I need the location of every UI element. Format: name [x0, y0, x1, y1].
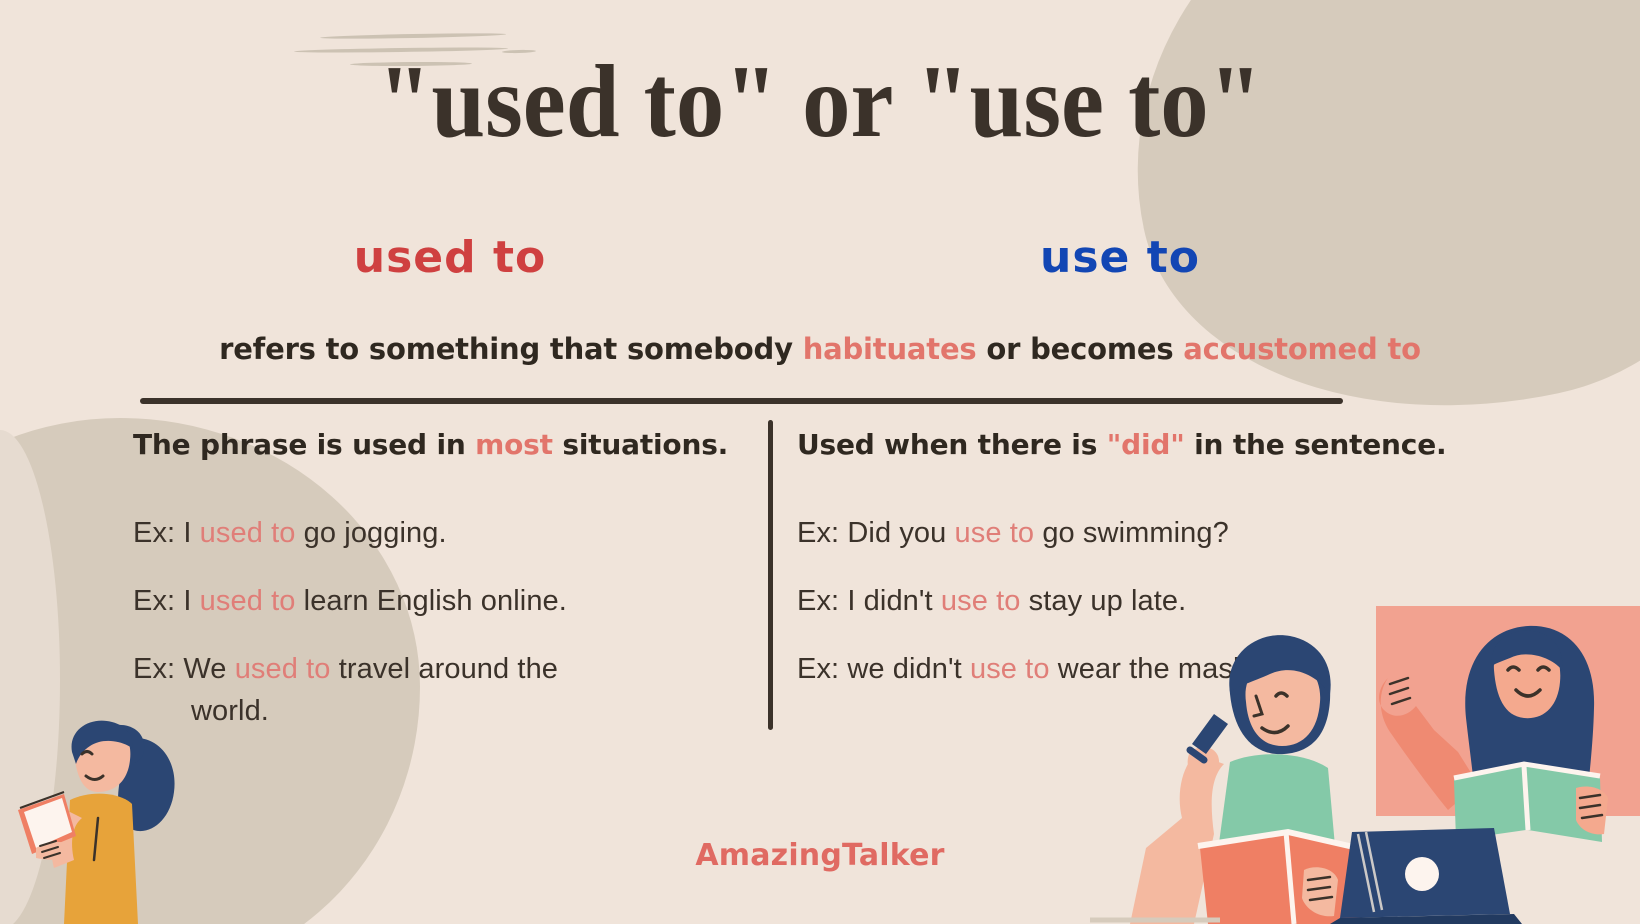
definition-part-1: refers to something that somebody: [219, 332, 803, 366]
vertical-divider: [768, 420, 773, 730]
definition-line: refers to something that somebody habitu…: [0, 332, 1640, 366]
illustration-students: [1090, 598, 1640, 924]
example-right-1: Ex: Did you use to go swimming?: [797, 513, 1437, 554]
example-left-1: Ex: I used to go jogging.: [133, 513, 753, 554]
statement-right-pre: Used when there is: [797, 428, 1107, 461]
infographic-canvas: "used to" or "use to" used to use to ref…: [0, 0, 1640, 924]
example-right-3-highlight: use to: [970, 653, 1050, 685]
example-left-1-post: go jogging.: [296, 517, 447, 549]
statement-left-post: situations.: [553, 428, 728, 461]
statement-left-pre: The phrase is used in: [133, 428, 475, 461]
definition-highlight-accustomed-to: accustomed to: [1183, 332, 1421, 366]
example-right-2-highlight: use to: [941, 585, 1021, 617]
example-left-3: Ex: We used to travel around theworld.: [133, 649, 753, 731]
example-right-2-pre: Ex: I didn't: [797, 585, 941, 617]
definition-highlight-habituates: habituates: [803, 332, 977, 366]
definition-part-2: or becomes: [976, 332, 1183, 366]
example-left-3-post: travel around the: [331, 653, 559, 685]
laptop-logo: [1405, 857, 1439, 891]
horizontal-divider: [140, 398, 1343, 404]
page-title: "used to" or "use to": [57, 44, 1582, 160]
illustration-girl-reading: [10, 700, 220, 924]
example-right-1-highlight: use to: [955, 517, 1035, 549]
column-used-to: The phrase is used in most situations. E…: [133, 428, 753, 759]
statement-right: Used when there is "did" in the sentence…: [797, 428, 1437, 461]
example-right-1-post: go swimming?: [1034, 517, 1229, 549]
statement-left: The phrase is used in most situations.: [133, 428, 753, 461]
column-heading-use-to: use to: [790, 232, 1450, 283]
statement-right-post: in the sentence.: [1185, 428, 1447, 461]
shirt: [64, 794, 138, 924]
boy-book-left-page: [1200, 834, 1296, 924]
example-left-2-highlight: used to: [200, 585, 296, 617]
statement-left-highlight: most: [475, 428, 553, 461]
example-left-2-post: learn English online.: [296, 585, 567, 617]
example-left-1-pre: Ex: I: [133, 517, 200, 549]
example-left-1-highlight: used to: [200, 517, 296, 549]
brush-stroke-1: [320, 32, 506, 40]
pen: [1192, 714, 1228, 754]
example-left-2: Ex: I used to learn English online.: [133, 581, 753, 622]
example-left-3-highlight: used to: [235, 653, 331, 685]
example-left-3-pre: Ex: We: [133, 653, 235, 685]
example-right-3-pre: Ex: we didn't: [797, 653, 970, 685]
column-heading-used-to: used to: [120, 232, 780, 283]
example-left-2-pre: Ex: I: [133, 585, 200, 617]
statement-right-highlight: "did": [1107, 428, 1185, 461]
example-right-1-pre: Ex: Did you: [797, 517, 955, 549]
